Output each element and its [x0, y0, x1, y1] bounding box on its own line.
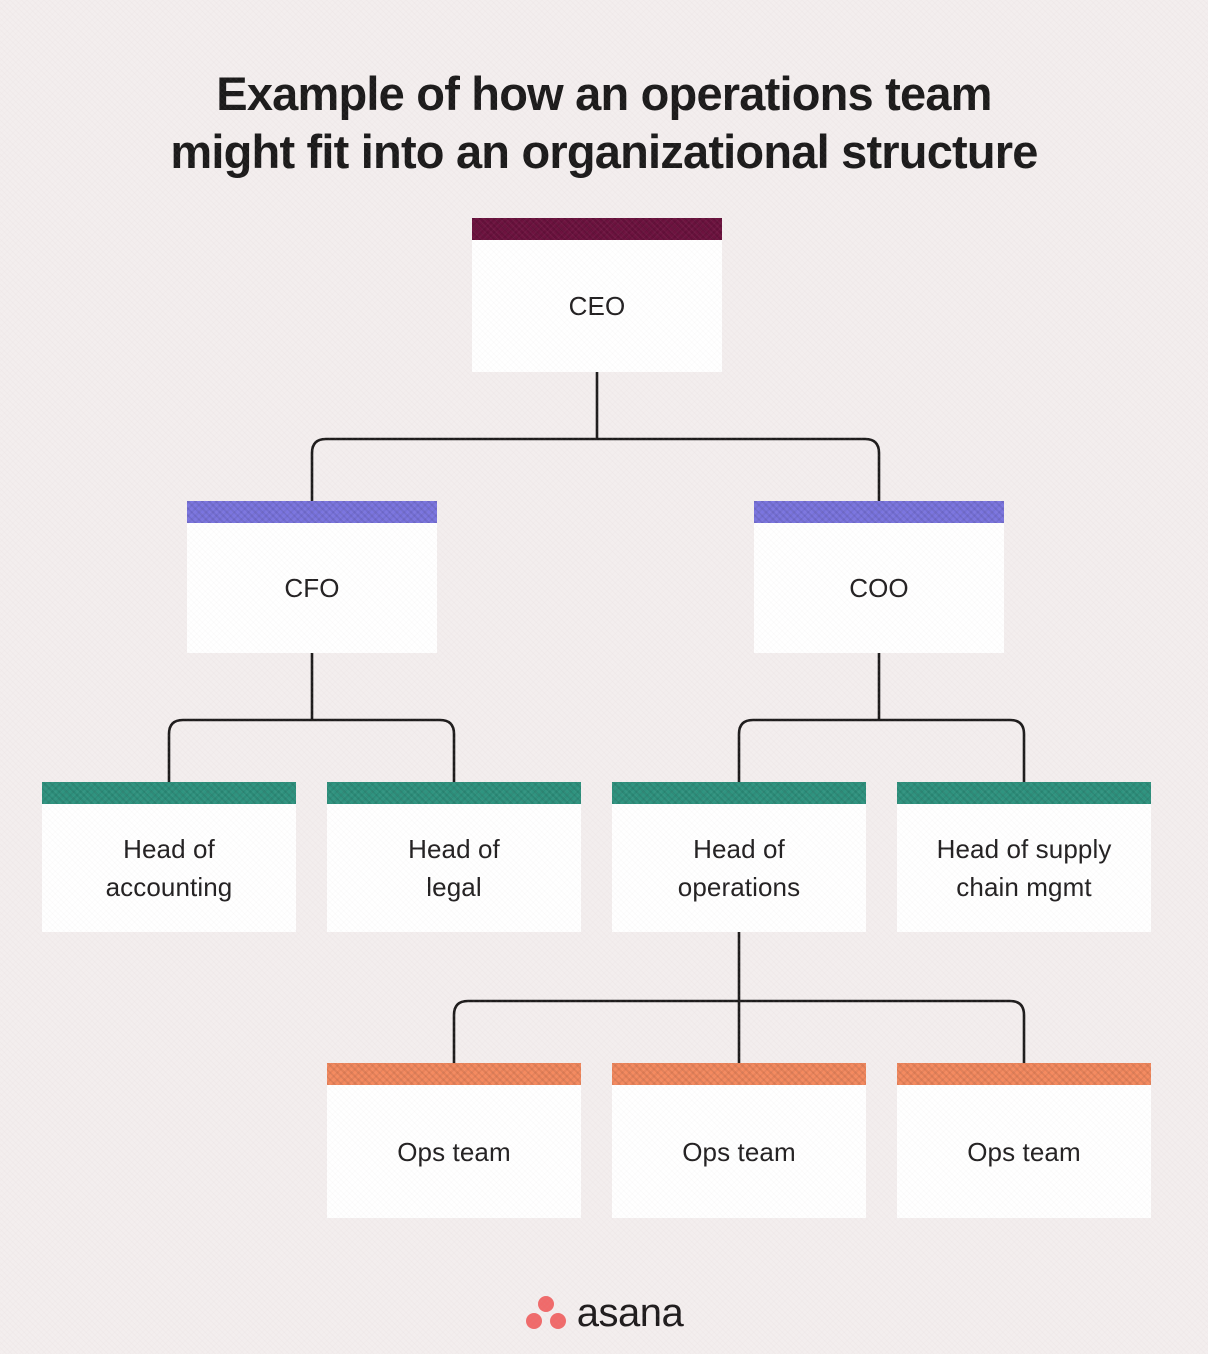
org-node-label: Head of legal — [327, 804, 581, 932]
org-node-opsteam3[interactable]: Ops team — [897, 1063, 1151, 1218]
org-node-label: Head of supply chain mgmt — [897, 804, 1151, 932]
org-node-color-bar — [612, 782, 866, 804]
org-node-legal[interactable]: Head of legal — [327, 782, 581, 932]
org-node-color-bar — [42, 782, 296, 804]
org-node-opsteam2[interactable]: Ops team — [612, 1063, 866, 1218]
org-node-label: Ops team — [612, 1085, 866, 1218]
asana-wordmark: asana — [577, 1293, 683, 1333]
org-node-color-bar — [327, 1063, 581, 1085]
asana-logo: asana — [0, 1285, 1208, 1341]
asana-dot-bottom-right-icon — [550, 1313, 566, 1329]
org-node-label: COO — [754, 523, 1004, 653]
org-node-color-bar — [187, 501, 437, 523]
org-node-opsteam1[interactable]: Ops team — [327, 1063, 581, 1218]
org-node-color-bar — [754, 501, 1004, 523]
org-node-color-bar — [897, 1063, 1151, 1085]
org-node-supply[interactable]: Head of supply chain mgmt — [897, 782, 1151, 932]
org-node-coo[interactable]: COO — [754, 501, 1004, 653]
page-title-line-2: might fit into an organizational structu… — [0, 123, 1208, 181]
org-node-acct[interactable]: Head of accounting — [42, 782, 296, 932]
asana-dot-bottom-left-icon — [526, 1313, 542, 1329]
org-node-label: Ops team — [327, 1085, 581, 1218]
page-title-line-1: Example of how an operations team — [0, 65, 1208, 123]
org-node-ceo[interactable]: CEO — [472, 218, 722, 372]
org-node-color-bar — [897, 782, 1151, 804]
page-title: Example of how an operations team might … — [0, 65, 1208, 181]
org-node-label: CFO — [187, 523, 437, 653]
org-node-label: Head of accounting — [42, 804, 296, 932]
asana-logo-dots-icon — [525, 1295, 567, 1331]
org-node-label: CEO — [472, 240, 722, 372]
asana-dot-top-icon — [538, 1296, 554, 1312]
org-node-cfo[interactable]: CFO — [187, 501, 437, 653]
org-chart: CEOCFOCOOHead of accountingHead of legal… — [0, 0, 1208, 1354]
org-node-ops[interactable]: Head of operations — [612, 782, 866, 932]
org-node-label: Ops team — [897, 1085, 1151, 1218]
org-node-color-bar — [472, 218, 722, 240]
org-node-color-bar — [612, 1063, 866, 1085]
org-node-label: Head of operations — [612, 804, 866, 932]
org-node-color-bar — [327, 782, 581, 804]
